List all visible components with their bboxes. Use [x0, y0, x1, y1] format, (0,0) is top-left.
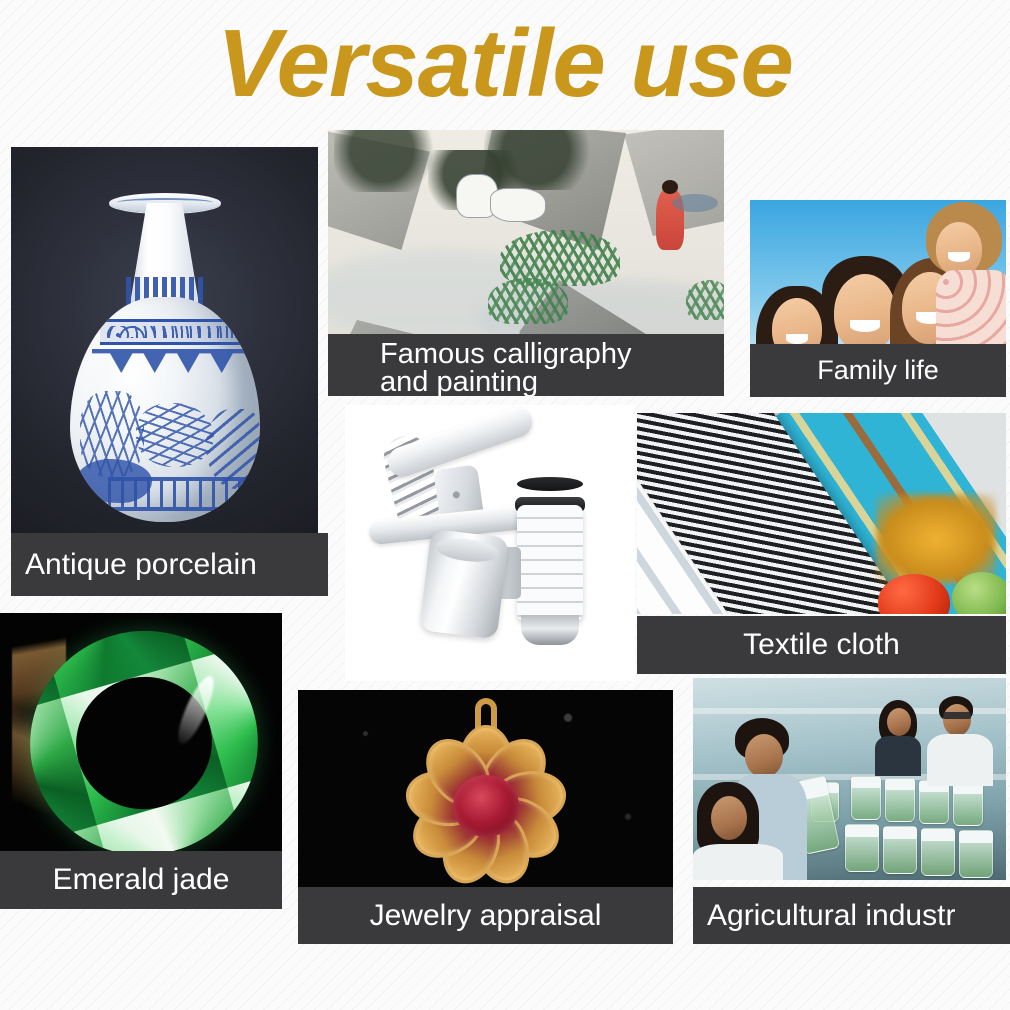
photo-jewelry-appraisal: [298, 690, 673, 888]
culture-jar: [885, 778, 915, 822]
pendant-center-ruby: [453, 775, 519, 837]
porcelain-vase-illustration: [50, 167, 280, 527]
collage-canvas: Versatile use: [0, 0, 1010, 1010]
microscope-objective-lens: [521, 615, 579, 645]
man-smile: [850, 320, 880, 332]
photo-antique-porcelain: [11, 147, 318, 547]
photo-emerald-jade: [0, 613, 282, 864]
culture-jar: [953, 782, 983, 826]
vase-scroll-band: [100, 319, 260, 345]
caption-jewelry-appraisal: Jewelry appraisal: [298, 887, 673, 944]
vase-fence: [108, 477, 258, 511]
figure-scholar-robe: [490, 188, 546, 222]
panel-agricultural-industry[interactable]: [693, 678, 1006, 880]
figure-red-head: [662, 180, 678, 194]
caption-line-1: Famous calligraphy: [380, 340, 724, 368]
student-girl-head: [711, 796, 747, 840]
child-smile: [948, 252, 970, 262]
green-foliage-low: [488, 278, 568, 324]
culture-jar: [883, 826, 917, 874]
photo-textile-cloth: [637, 413, 1006, 614]
jar-lid: [886, 779, 914, 790]
panel-antique-porcelain[interactable]: [11, 147, 318, 547]
jar-lid: [846, 825, 878, 837]
caption-emerald-jade: Emerald jade: [0, 851, 282, 909]
culture-jar: [959, 830, 993, 878]
figure-red-sash: [672, 194, 718, 212]
culture-jar: [919, 780, 949, 824]
lens-top-ring: [517, 477, 583, 491]
caption-family-life: Family life: [750, 344, 1006, 397]
woman-left-smile: [786, 334, 808, 344]
caption-calligraphy-painting: Famous calligraphy and painting: [328, 334, 724, 396]
green-foliage-right: [686, 280, 724, 320]
panel-jewelry-appraisal[interactable]: [298, 690, 673, 888]
researcher-right-head: [943, 704, 971, 736]
jar-lid: [960, 831, 992, 843]
culture-jar: [851, 776, 881, 820]
vase-body: [70, 297, 260, 522]
child-face: [936, 222, 982, 276]
caption-textile-cloth: Textile cloth: [637, 616, 1006, 674]
researcher-glasses: [943, 712, 971, 719]
researcher-right-labcoat: [927, 734, 993, 786]
jar-lid: [922, 829, 954, 841]
student-girl-shirt: [693, 844, 783, 880]
page-title: Versatile use: [0, 8, 1010, 120]
jar-lid: [884, 827, 916, 839]
panel-textile-cloth[interactable]: [637, 413, 1006, 614]
jar-lid: [852, 777, 880, 788]
student-boy-head: [745, 734, 783, 778]
researcher-back-top: [875, 736, 921, 776]
ink-foliage-top: [484, 130, 614, 190]
microscope-led-barrel: [419, 529, 509, 640]
photo-agricultural-lab: [693, 678, 1006, 880]
caption-line-2: and painting: [380, 368, 724, 396]
culture-jar: [921, 828, 955, 876]
vase-lappet-band: [92, 349, 260, 373]
microscope-lens-barrel: [517, 505, 583, 621]
vase-bamboo-center: [136, 403, 214, 467]
man-face: [834, 274, 896, 352]
vase-landscape-scene: [78, 385, 254, 505]
panel-emerald-jade[interactable]: [0, 613, 282, 864]
caption-agricultural-industry: Agricultural industr: [693, 887, 1010, 944]
caption-antique-porcelain: Antique porcelain: [11, 533, 328, 596]
culture-jar: [845, 824, 879, 872]
researcher-back-head: [887, 708, 911, 736]
pendant-flower: [401, 730, 571, 882]
photo-clip-microscope: [345, 405, 635, 681]
background-warm-glow: [876, 494, 996, 584]
panel-product-microscope[interactable]: [345, 405, 635, 681]
